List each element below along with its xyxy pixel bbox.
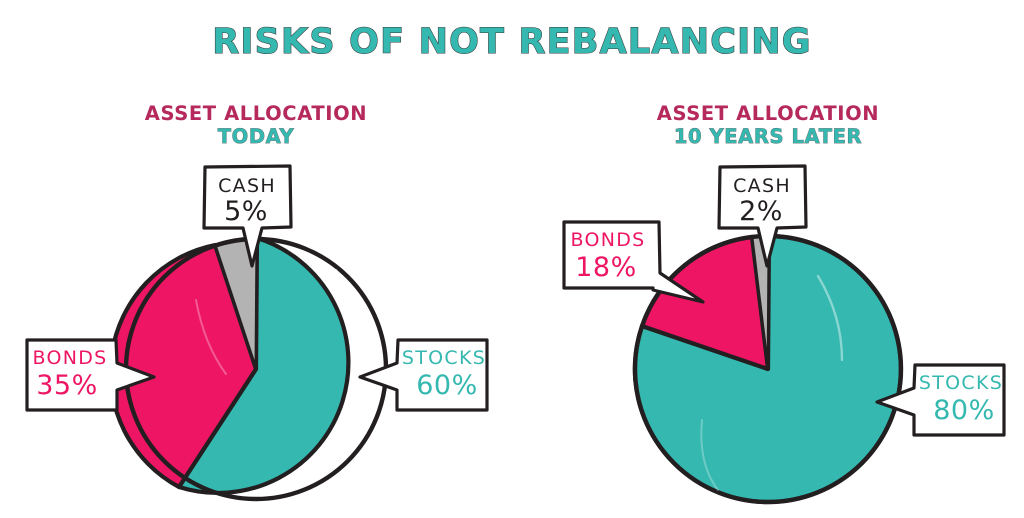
- callout-stocks-today-label: STOCKS: [402, 347, 486, 369]
- left-subtitle-line1: ASSET ALLOCATION: [145, 102, 367, 125]
- callout-cash-later-value: 2%: [739, 196, 783, 227]
- infographic-canvas: RISKS OF NOT REBALANCING ASSET ALLOCATIO…: [0, 0, 1024, 518]
- callout-bonds-today-value: 35%: [36, 370, 98, 401]
- callout-cash-today-label: CASH: [218, 175, 276, 197]
- callout-stocks-today[interactable]: STOCKS 60%: [360, 340, 487, 410]
- page-title: RISKS OF NOT REBALANCING: [212, 22, 811, 62]
- callout-bonds-later[interactable]: BONDS 18%: [564, 222, 703, 302]
- callout-bonds-today-label: BONDS: [32, 347, 107, 369]
- callout-bonds-later-label: BONDS: [570, 229, 645, 251]
- callout-bonds-later-value: 18%: [575, 252, 637, 283]
- callout-stocks-today-value: 60%: [416, 370, 478, 401]
- pie-chart-10-years-later: [635, 236, 901, 502]
- callout-cash-later-label: CASH: [733, 175, 791, 197]
- callout-cash-today-value: 5%: [224, 196, 268, 227]
- pie-chart-today: [111, 238, 386, 499]
- infographic-svg: RISKS OF NOT REBALANCING ASSET ALLOCATIO…: [0, 0, 1024, 518]
- callout-stocks-later-label: STOCKS: [919, 372, 1003, 394]
- right-subtitle-line1: ASSET ALLOCATION: [657, 102, 879, 125]
- callout-stocks-later-value: 80%: [933, 395, 995, 426]
- left-subtitle-line2: TODAY: [218, 125, 295, 148]
- right-subtitle-line2: 10 YEARS LATER: [674, 125, 862, 148]
